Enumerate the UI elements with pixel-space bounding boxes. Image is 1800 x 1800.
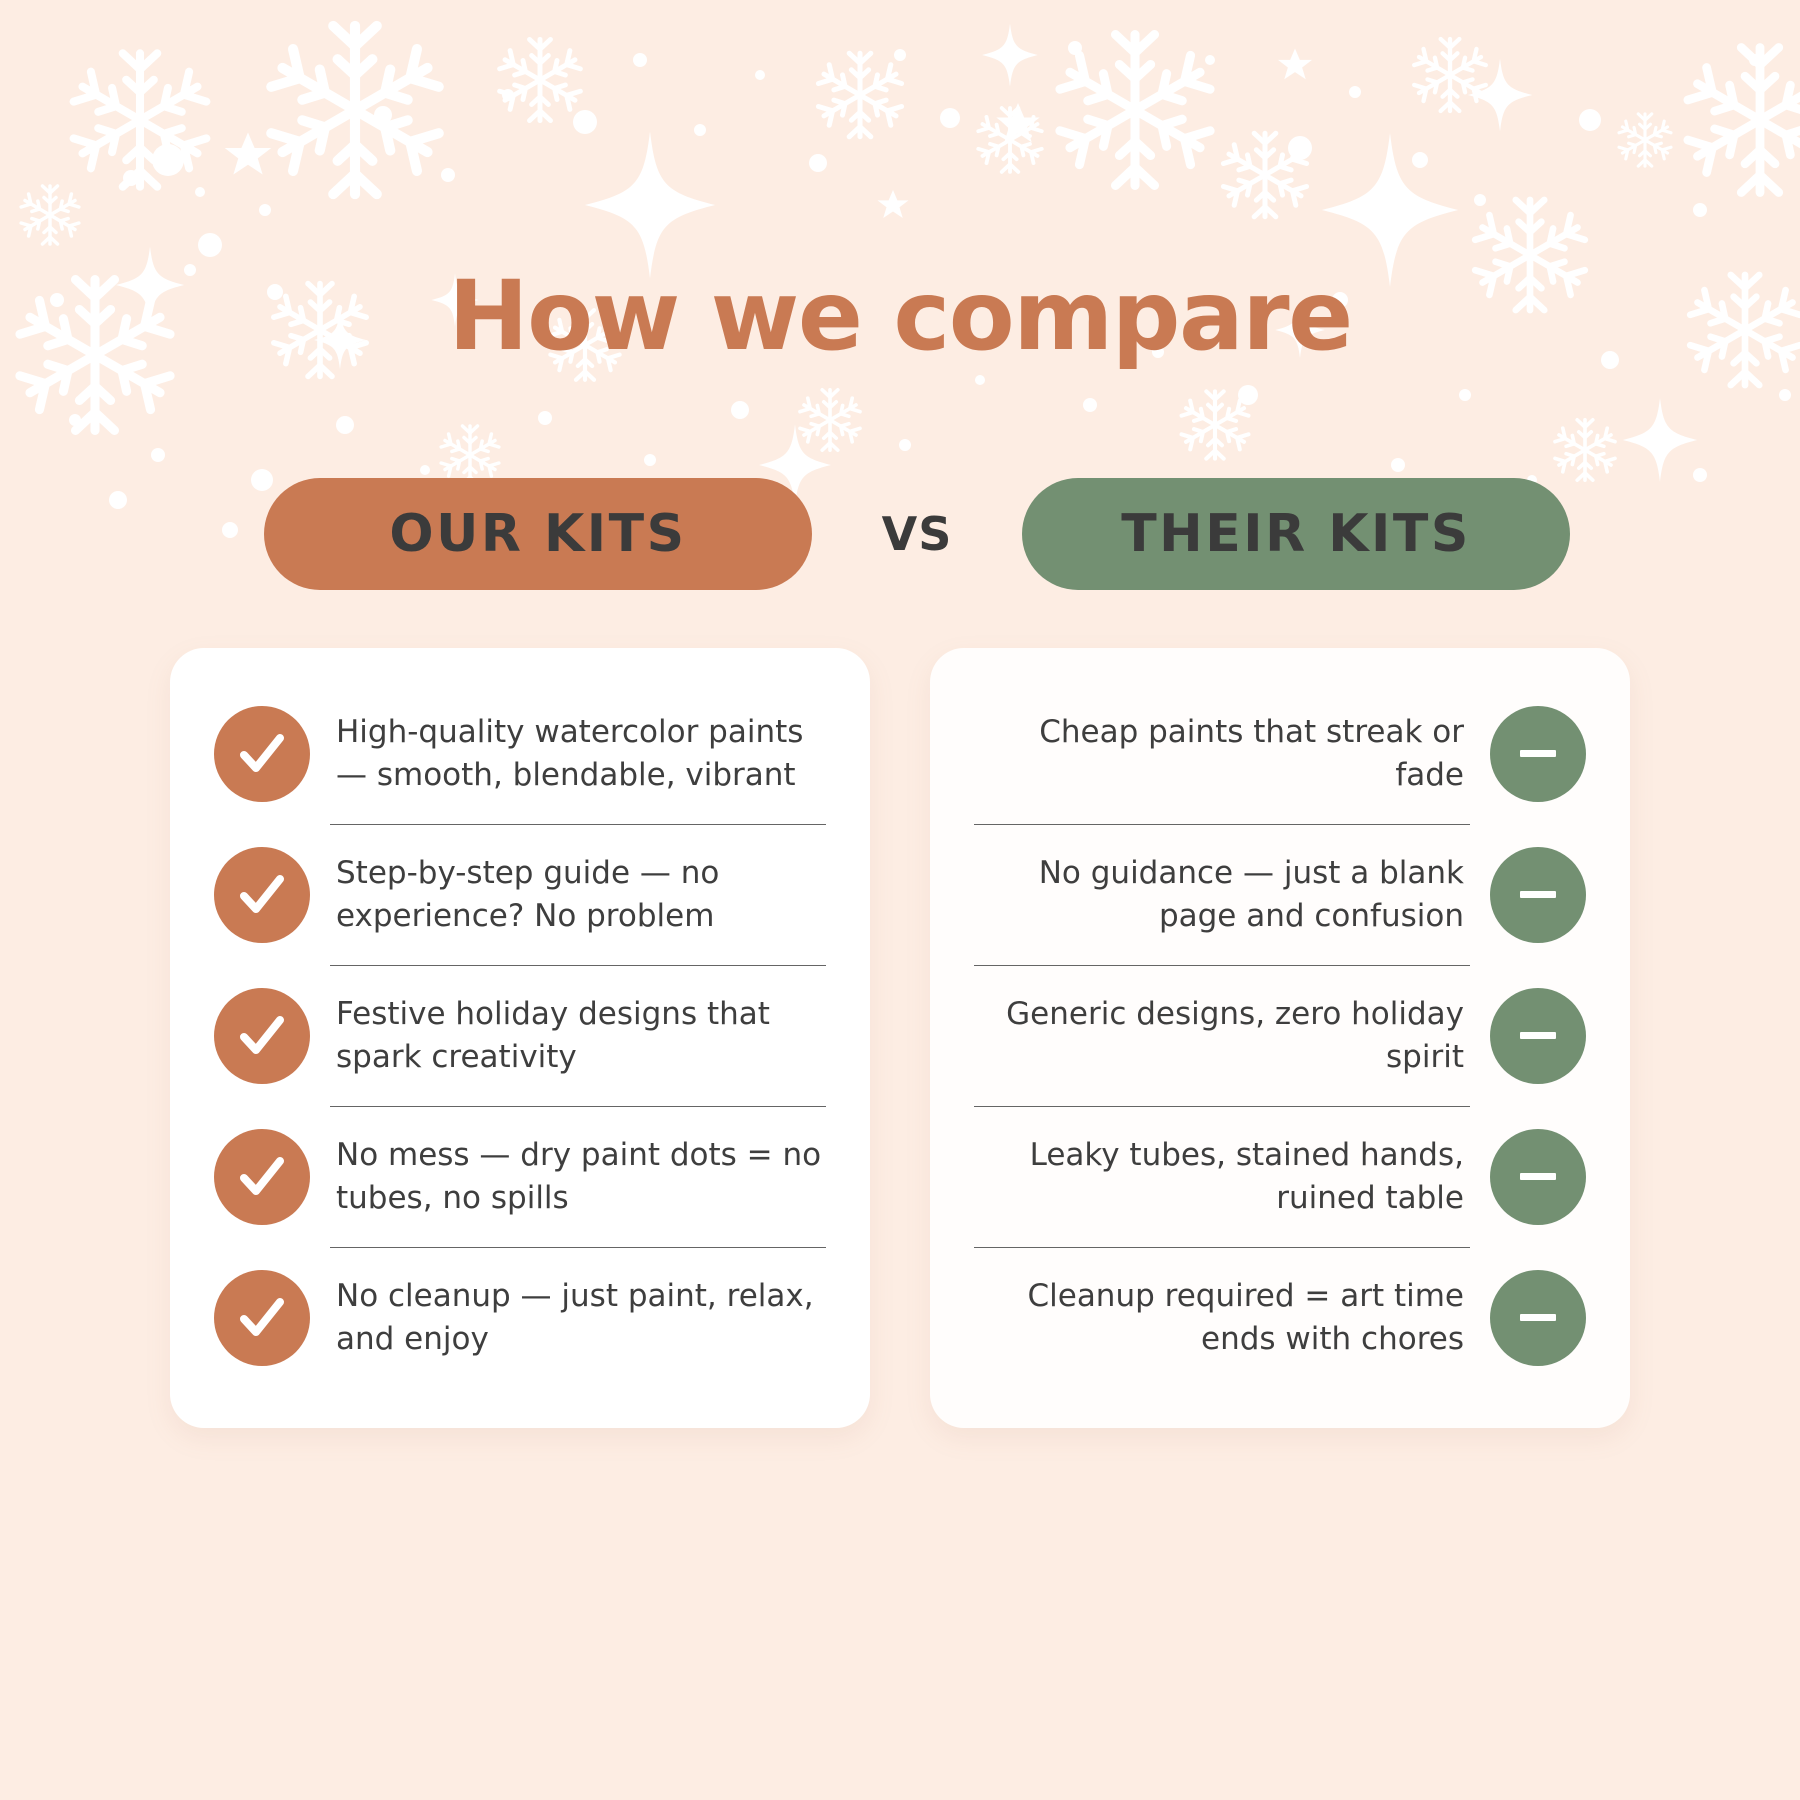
pill-their-kits[interactable]: THEIR KITS [1022, 478, 1570, 590]
check-icon [214, 1129, 310, 1225]
check-icon [214, 988, 310, 1084]
list-item: No mess — dry paint dots = no tubes, no … [214, 1107, 826, 1247]
check-icon [214, 706, 310, 802]
row-divider [330, 1106, 826, 1107]
comparison-infographic: How we compare OUR KITS VS THEIR KITS Hi… [0, 0, 1800, 1800]
list-item-label: Generic designs, zero holiday spirit [974, 993, 1464, 1079]
list-item-label: Step-by-step guide — no experience? No p… [336, 852, 826, 938]
list-item: Step-by-step guide — no experience? No p… [214, 825, 826, 965]
their-kits-list: Cheap paints that streak or fade No guid… [974, 684, 1586, 1388]
their-kits-card: Cheap paints that streak or fade No guid… [930, 648, 1630, 1428]
list-item: Cheap paints that streak or fade [974, 684, 1586, 824]
check-icon [214, 1270, 310, 1366]
page-title: How we compare [0, 268, 1800, 364]
row-divider [974, 965, 1470, 966]
row-divider [974, 1106, 1470, 1107]
list-item-label: No cleanup — just paint, relax, and enjo… [336, 1275, 826, 1361]
list-item-label: Leaky tubes, stained hands, ruined table [974, 1134, 1464, 1220]
list-item: Cleanup required = art time ends with ch… [974, 1248, 1586, 1388]
minus-icon [1490, 706, 1586, 802]
row-divider [330, 1247, 826, 1248]
minus-icon [1490, 988, 1586, 1084]
pill-our-kits[interactable]: OUR KITS [264, 478, 812, 590]
comparison-header: OUR KITS VS THEIR KITS [0, 478, 1800, 590]
minus-icon [1490, 1270, 1586, 1366]
vs-label: VS [812, 507, 1022, 561]
row-divider [330, 824, 826, 825]
list-item: No guidance — just a blank page and conf… [974, 825, 1586, 965]
list-item: High-quality watercolor paints — smooth,… [214, 684, 826, 824]
list-item: Leaky tubes, stained hands, ruined table [974, 1107, 1586, 1247]
list-item: No cleanup — just paint, relax, and enjo… [214, 1248, 826, 1388]
list-item-label: Cheap paints that streak or fade [974, 711, 1464, 797]
row-divider [974, 824, 1470, 825]
list-item: Generic designs, zero holiday spirit [974, 966, 1586, 1106]
check-icon [214, 847, 310, 943]
list-item-label: High-quality watercolor paints — smooth,… [336, 711, 826, 797]
comparison-cards: High-quality watercolor paints — smooth,… [0, 648, 1800, 1428]
row-divider [974, 1247, 1470, 1248]
list-item-label: No guidance — just a blank page and conf… [974, 852, 1464, 938]
our-kits-card: High-quality watercolor paints — smooth,… [170, 648, 870, 1428]
list-item: Festive holiday designs that spark creat… [214, 966, 826, 1106]
list-item-label: Festive holiday designs that spark creat… [336, 993, 826, 1079]
our-kits-list: High-quality watercolor paints — smooth,… [214, 684, 826, 1388]
list-item-label: No mess — dry paint dots = no tubes, no … [336, 1134, 826, 1220]
row-divider [330, 965, 826, 966]
list-item-label: Cleanup required = art time ends with ch… [974, 1275, 1464, 1361]
minus-icon [1490, 1129, 1586, 1225]
minus-icon [1490, 847, 1586, 943]
